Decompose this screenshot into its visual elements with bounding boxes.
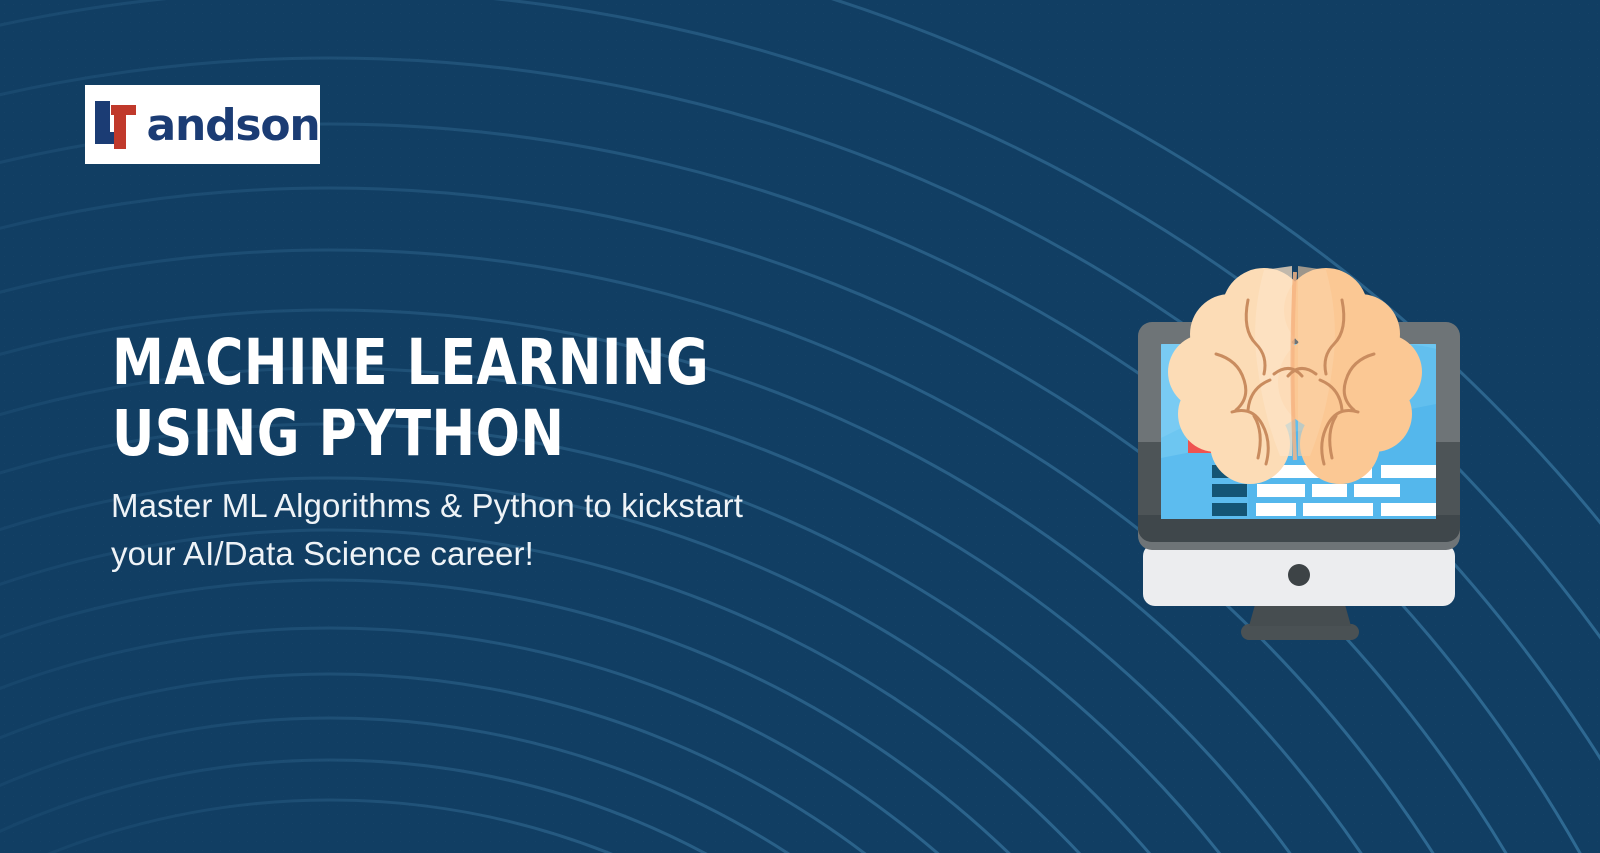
page-title-line-1: MACHINE LEARNING: [112, 331, 922, 394]
code-text-bar: [1303, 503, 1373, 516]
code-label-bar: [1212, 503, 1247, 516]
code-text-bar: [1381, 465, 1443, 478]
page-title-line-2: USING PYTHON: [112, 402, 922, 465]
code-text-bar: [1312, 484, 1347, 497]
code-text-bar: [1256, 503, 1296, 516]
page-subtitle-line-2: your AI/Data Science career!: [111, 530, 931, 578]
code-text-bar: [1257, 484, 1305, 497]
monitor-camera-dot: [1288, 564, 1310, 586]
handson-logo[interactable]: andson: [85, 85, 320, 164]
monitor-foot: [1241, 624, 1359, 640]
marketing-banner: andson MACHINE LEARNING USING PYTHON Mas…: [0, 0, 1600, 853]
brain-on-computer-monitor-illustration: [1098, 262, 1498, 652]
page-subtitle: Master ML Algorithms & Python to kicksta…: [111, 482, 931, 578]
code-label-bar: [1212, 484, 1247, 497]
page-subtitle-line-1: Master ML Algorithms & Python to kicksta…: [111, 482, 931, 530]
code-text-bar: [1354, 484, 1400, 497]
handson-logo-wordmark: andson: [146, 104, 319, 148]
handson-h-monogram-icon: [89, 99, 147, 151]
page-title: MACHINE LEARNING USING PYTHON: [112, 331, 922, 465]
